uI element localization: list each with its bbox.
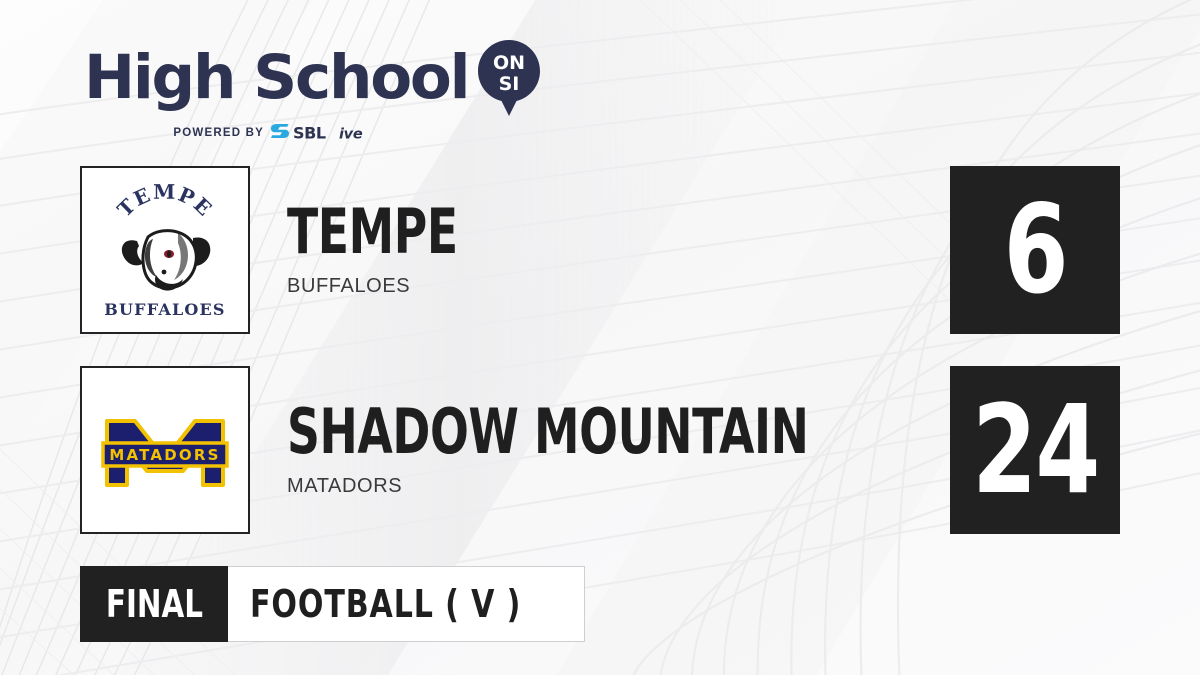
status-label: FINAL <box>105 582 202 626</box>
score-value-2: 24 <box>972 389 1098 511</box>
svg-text:ON: ON <box>493 52 525 74</box>
svg-text:TEMPE: TEMPE <box>113 180 218 222</box>
tempe-buffaloes-logo-icon: TEMPE <box>90 175 240 325</box>
powered-by-label: POWERED BY <box>173 127 264 139</box>
sblive-logo: SBL ive <box>271 123 399 142</box>
svg-text:SI: SI <box>499 73 520 95</box>
team-logo-box-2: MATADORS <box>80 366 250 534</box>
score-value-1: 6 <box>1003 189 1066 311</box>
score-box-1: 6 <box>950 166 1120 334</box>
brand-title: High School <box>84 47 468 108</box>
on-si-pin-icon: ON SI <box>478 40 540 116</box>
svg-text:BUFFALOES: BUFFALOES <box>104 300 225 319</box>
svg-text:SBL: SBL <box>293 123 326 142</box>
team-info-1: TEMPE BUFFALOES <box>287 166 495 334</box>
score-box-2: 24 <box>950 366 1120 534</box>
powered-by-row: POWERED BY SBL ive <box>84 123 540 142</box>
brand-header: High School ON SI POWERED BY SBL ive <box>84 38 540 142</box>
game-status-bar: FINAL FOOTBALL ( V ) <box>80 566 585 642</box>
team-name-2: SHADOW MOUNTAIN <box>287 402 808 463</box>
svg-text:MATADORS: MATADORS <box>109 446 220 464</box>
sport-label: FOOTBALL ( V ) <box>250 582 521 626</box>
team-logo-box-1: TEMPE <box>80 166 250 334</box>
status-badge: FINAL <box>80 566 228 642</box>
shadow-mountain-matadors-logo-icon: MATADORS <box>90 375 240 525</box>
team-name-1: TEMPE <box>287 202 458 263</box>
team-info-2: SHADOW MOUNTAIN MATADORS <box>287 366 923 534</box>
team-mascot-1: BUFFALOES <box>287 275 495 298</box>
sport-label-box: FOOTBALL ( V ) <box>228 566 585 642</box>
scoreboard-graphic: High School ON SI POWERED BY SBL ive <box>0 0 1200 675</box>
team-mascot-2: MATADORS <box>287 475 923 498</box>
svg-text:ive: ive <box>339 126 363 142</box>
